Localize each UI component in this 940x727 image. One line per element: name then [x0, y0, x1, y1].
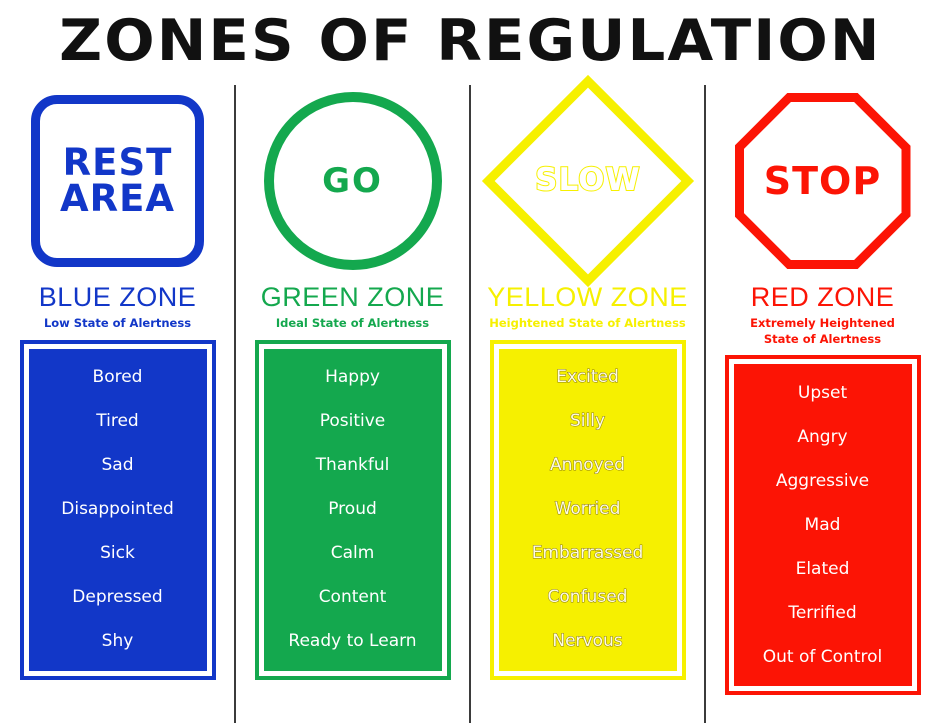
list-item: Proud	[328, 500, 377, 519]
list-item: Bored	[93, 368, 143, 387]
sign-label-line1: STOP	[764, 163, 881, 199]
list-item: Angry	[797, 428, 847, 447]
page-title: ZONES OF REGULATION	[59, 13, 881, 70]
feelings-box-red: Upset Angry Aggressive Mad Elated Terrif…	[725, 355, 921, 695]
zone-subtitle-red-line2: State of Alertness	[750, 332, 895, 348]
sign-area-yellow: SLOW	[470, 82, 705, 280]
list-item: Embarrassed	[532, 544, 644, 563]
list-item: Depressed	[72, 588, 162, 607]
sign-label-wrap: STOP	[764, 163, 881, 199]
zone-subtitle-yellow: Heightened State of Alertness	[489, 316, 686, 332]
sign-area-green: GO	[235, 82, 470, 280]
zone-column-green[interactable]: GO GREEN ZONE Ideal State of Alertness H…	[235, 82, 470, 727]
zone-subtitle-red: Extremely Heightened State of Alertness	[750, 316, 895, 347]
zone-column-yellow[interactable]: SLOW YELLOW ZONE Heightened State of Ale…	[470, 82, 705, 727]
feelings-list-red: Upset Angry Aggressive Mad Elated Terrif…	[734, 364, 912, 686]
feelings-list-yellow: Excited Silly Annoyed Worried Embarrasse…	[499, 349, 677, 671]
list-item: Positive	[320, 412, 386, 431]
feelings-list-green: Happy Positive Thankful Proud Calm Conte…	[264, 349, 442, 671]
stop-octagon-sign-icon: STOP	[735, 93, 911, 269]
zone-column-blue[interactable]: REST AREA BLUE ZONE Low State of Alertne…	[0, 82, 235, 727]
list-item: Ready to Learn	[288, 632, 416, 651]
sign-area-blue: REST AREA	[0, 82, 235, 280]
zones-grid: REST AREA BLUE ZONE Low State of Alertne…	[0, 82, 940, 727]
list-item: Elated	[796, 560, 850, 579]
zone-subtitle-red-line1: Extremely Heightened	[750, 316, 895, 332]
list-item: Confused	[548, 588, 628, 607]
slow-diamond-sign-icon: SLOW	[481, 75, 693, 287]
feelings-list-blue: Bored Tired Sad Disappointed Sick Depres…	[29, 349, 207, 671]
list-item: Nervous	[552, 632, 622, 651]
sign-label-wrap: SLOW	[535, 166, 641, 196]
sign-label-line2: AREA	[60, 181, 175, 217]
feelings-box-green: Happy Positive Thankful Proud Calm Conte…	[255, 340, 451, 680]
list-item: Mad	[805, 516, 841, 535]
feelings-box-blue: Bored Tired Sad Disappointed Sick Depres…	[20, 340, 216, 680]
feelings-box-yellow: Excited Silly Annoyed Worried Embarrasse…	[490, 340, 686, 680]
sign-label-line1: GO	[322, 165, 383, 198]
list-item: Content	[319, 588, 387, 607]
rest-area-sign-icon: REST AREA	[31, 95, 204, 267]
list-item: Aggressive	[776, 472, 869, 491]
list-item: Happy	[325, 368, 380, 387]
list-item: Tired	[96, 412, 138, 431]
list-item: Sad	[102, 456, 134, 475]
zone-title-blue: BLUE ZONE	[39, 282, 197, 313]
list-item: Disappointed	[61, 500, 173, 519]
poster-header: ZONES OF REGULATION	[0, 0, 940, 82]
zone-subtitle-green: Ideal State of Alertness	[276, 316, 429, 332]
zone-column-red[interactable]: STOP RED ZONE Extremely Heightened State…	[705, 82, 940, 727]
list-item: Worried	[555, 500, 621, 519]
list-item: Shy	[102, 632, 134, 651]
list-item: Thankful	[316, 456, 390, 475]
list-item: Out of Control	[763, 648, 882, 667]
list-item: Silly	[570, 412, 605, 431]
zone-title-green: GREEN ZONE	[261, 282, 445, 313]
sign-label-line1: SLOW	[535, 166, 641, 196]
list-item: Excited	[556, 368, 619, 387]
list-item: Calm	[331, 544, 375, 563]
list-item: Annoyed	[550, 456, 625, 475]
zone-subtitle-blue: Low State of Alertness	[44, 316, 191, 332]
sign-label-line1: REST	[63, 145, 173, 181]
go-circle-sign-icon: GO	[264, 92, 442, 270]
list-item: Terrified	[788, 604, 856, 623]
list-item: Sick	[100, 544, 135, 563]
list-item: Upset	[798, 384, 847, 403]
zone-title-red: RED ZONE	[751, 282, 895, 313]
sign-area-red: STOP	[705, 82, 940, 280]
